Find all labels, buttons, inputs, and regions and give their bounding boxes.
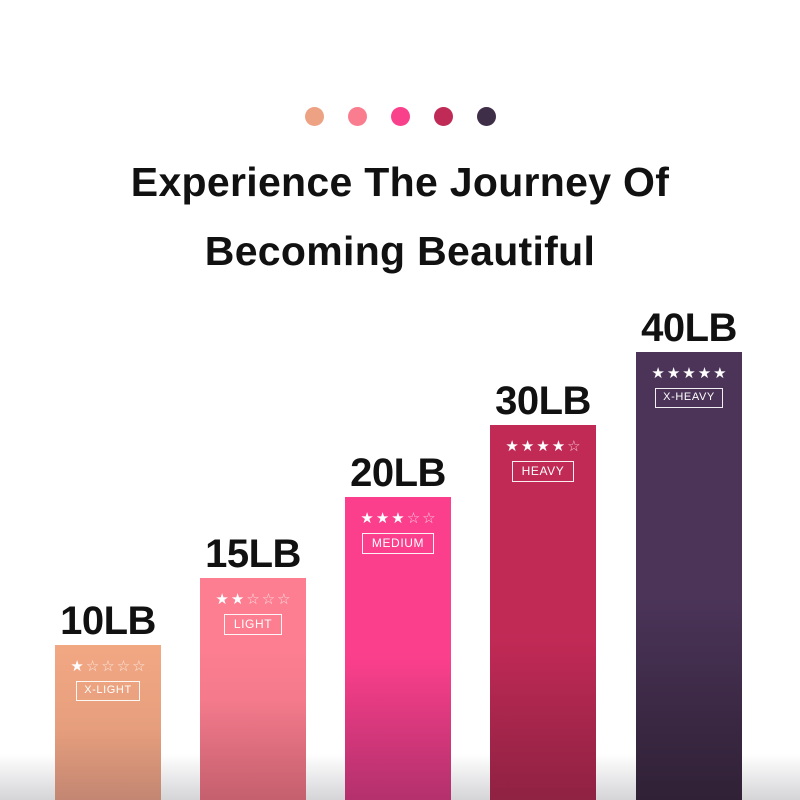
star-filled-icon: ★: [231, 592, 244, 607]
bar-group-heavy[interactable]: 30LB★★★★☆HEAVY: [490, 425, 596, 800]
star-rating: ★★★★★: [651, 366, 726, 381]
bar-group-light[interactable]: 15LB★★☆☆☆LIGHT: [200, 578, 306, 800]
star-filled-icon: ★: [521, 439, 534, 454]
star-rating: ★★★☆☆: [360, 511, 435, 526]
level-chip: X-HEAVY: [655, 388, 723, 408]
star-empty-icon: ☆: [101, 659, 114, 674]
level-chip: MEDIUM: [362, 533, 434, 554]
bar-content: ★★★★★X-HEAVY: [636, 366, 742, 408]
star-empty-icon: ☆: [132, 659, 145, 674]
bar-group-x-heavy[interactable]: 40LB★★★★★X-HEAVY: [636, 352, 742, 800]
level-chip: X-LIGHT: [76, 681, 140, 701]
star-filled-icon: ★: [391, 511, 404, 526]
star-filled-icon: ★: [682, 366, 695, 381]
star-rating: ★☆☆☆☆: [70, 659, 145, 674]
star-empty-icon: ☆: [277, 592, 290, 607]
bar-weight-label: 10LB: [60, 601, 156, 641]
bar-rect: ★★★★★X-HEAVY: [636, 352, 742, 800]
star-empty-icon: ☆: [407, 511, 420, 526]
star-rating: ★★★★☆: [505, 439, 580, 454]
star-empty-icon: ☆: [86, 659, 99, 674]
star-empty-icon: ☆: [117, 659, 130, 674]
bar-group-medium[interactable]: 20LB★★★☆☆MEDIUM: [345, 497, 451, 800]
bar-weight-label: 15LB: [205, 534, 301, 574]
star-rating: ★★☆☆☆: [215, 592, 290, 607]
level-chip: LIGHT: [224, 614, 282, 635]
resistance-bar-chart: 10LB★☆☆☆☆X-LIGHT15LB★★☆☆☆LIGHT20LB★★★☆☆M…: [0, 0, 800, 800]
bar-rect: ★★★☆☆MEDIUM: [345, 497, 451, 800]
star-empty-icon: ☆: [422, 511, 435, 526]
bar-content: ★☆☆☆☆X-LIGHT: [55, 659, 161, 701]
level-chip: HEAVY: [512, 461, 575, 482]
star-filled-icon: ★: [698, 366, 711, 381]
bar-rect: ★★★★☆HEAVY: [490, 425, 596, 800]
bar-rect: ★★☆☆☆LIGHT: [200, 578, 306, 800]
bar-weight-label: 20LB: [350, 453, 446, 493]
star-filled-icon: ★: [536, 439, 549, 454]
star-filled-icon: ★: [505, 439, 518, 454]
star-empty-icon: ☆: [246, 592, 259, 607]
bar-content: ★★★☆☆MEDIUM: [345, 511, 451, 554]
star-filled-icon: ★: [215, 592, 228, 607]
bar-weight-label: 30LB: [495, 381, 591, 421]
bar-content: ★★★★☆HEAVY: [490, 439, 596, 482]
star-filled-icon: ★: [70, 659, 83, 674]
bar-weight-label: 40LB: [641, 308, 737, 348]
star-filled-icon: ★: [552, 439, 565, 454]
product-infographic-page: Experience The Journey Of Becoming Beaut…: [0, 0, 800, 800]
bar-content: ★★☆☆☆LIGHT: [200, 592, 306, 635]
star-filled-icon: ★: [651, 366, 664, 381]
bar-rect: ★☆☆☆☆X-LIGHT: [55, 645, 161, 800]
star-filled-icon: ★: [376, 511, 389, 526]
bar-group-x-light[interactable]: 10LB★☆☆☆☆X-LIGHT: [55, 645, 161, 800]
star-empty-icon: ☆: [262, 592, 275, 607]
star-filled-icon: ★: [667, 366, 680, 381]
star-empty-icon: ☆: [567, 439, 580, 454]
star-filled-icon: ★: [713, 366, 726, 381]
star-filled-icon: ★: [360, 511, 373, 526]
